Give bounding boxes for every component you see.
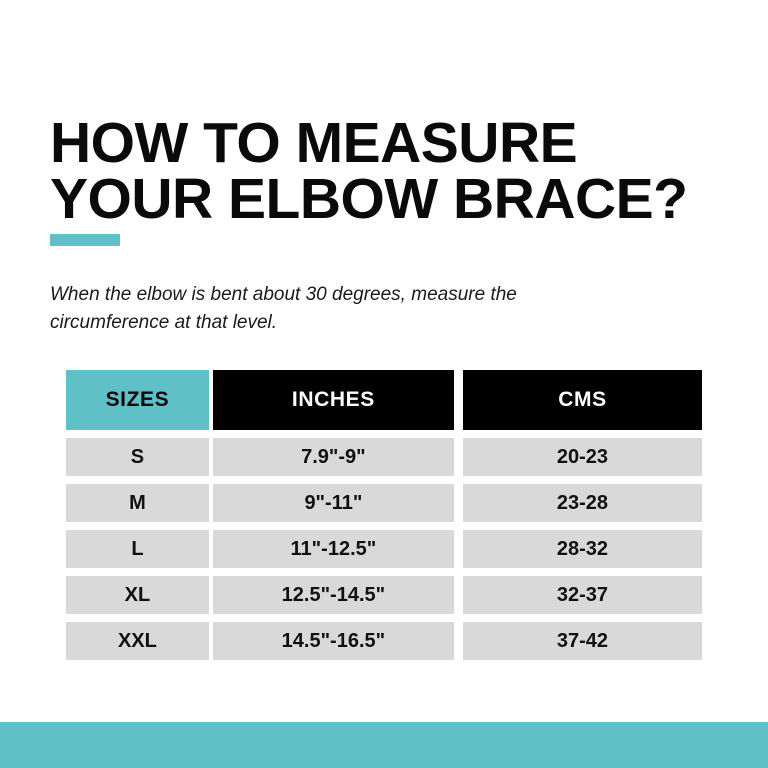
column-header-sizes: SIZES bbox=[66, 370, 209, 430]
instruction-text: When the elbow is bent about 30 degrees,… bbox=[50, 281, 650, 336]
footer-accent-bar bbox=[0, 722, 768, 768]
cell-inches: 7.9"-9" bbox=[213, 438, 454, 476]
instruction-text-line-2: circumference at that level. bbox=[50, 309, 650, 337]
table-row: S 7.9"-9" 20-23 bbox=[66, 438, 702, 476]
table-row: M 9"-11" 23-28 bbox=[66, 484, 702, 522]
cell-size: M bbox=[66, 484, 209, 522]
page-title-line-1: HOW TO MEASURE bbox=[50, 116, 730, 172]
cell-cms: 20-23 bbox=[463, 438, 702, 476]
page-title-line-2: YOUR ELBOW BRACE? bbox=[50, 172, 730, 228]
accent-divider-bar bbox=[50, 234, 120, 246]
cell-cms: 28-32 bbox=[463, 530, 702, 568]
cell-size: XXL bbox=[66, 622, 209, 660]
table-row: XL 12.5"-14.5" 32-37 bbox=[66, 576, 702, 614]
cell-inches: 9"-11" bbox=[213, 484, 454, 522]
column-header-inches: INCHES bbox=[213, 370, 454, 430]
cell-cms: 23-28 bbox=[463, 484, 702, 522]
cell-inches: 11"-12.5" bbox=[213, 530, 454, 568]
cell-size: XL bbox=[66, 576, 209, 614]
cell-cms: 37-42 bbox=[463, 622, 702, 660]
cell-inches: 12.5"-14.5" bbox=[213, 576, 454, 614]
table-row: XXL 14.5"-16.5" 37-42 bbox=[66, 622, 702, 660]
table-header-row: SIZES INCHES CMS bbox=[66, 370, 702, 430]
size-guide-page: HOW TO MEASURE YOUR ELBOW BRACE? When th… bbox=[0, 0, 768, 768]
table-row: L 11"-12.5" 28-32 bbox=[66, 530, 702, 568]
size-chart-table: SIZES INCHES CMS S 7.9"-9" 20-23 M 9"-11… bbox=[66, 370, 702, 660]
instruction-text-line-1: When the elbow is bent about 30 degrees,… bbox=[50, 281, 650, 309]
cell-size: S bbox=[66, 438, 209, 476]
column-header-cms: CMS bbox=[463, 370, 702, 430]
page-title: HOW TO MEASURE YOUR ELBOW BRACE? bbox=[50, 116, 730, 228]
cell-cms: 32-37 bbox=[463, 576, 702, 614]
cell-size: L bbox=[66, 530, 209, 568]
cell-inches: 14.5"-16.5" bbox=[213, 622, 454, 660]
